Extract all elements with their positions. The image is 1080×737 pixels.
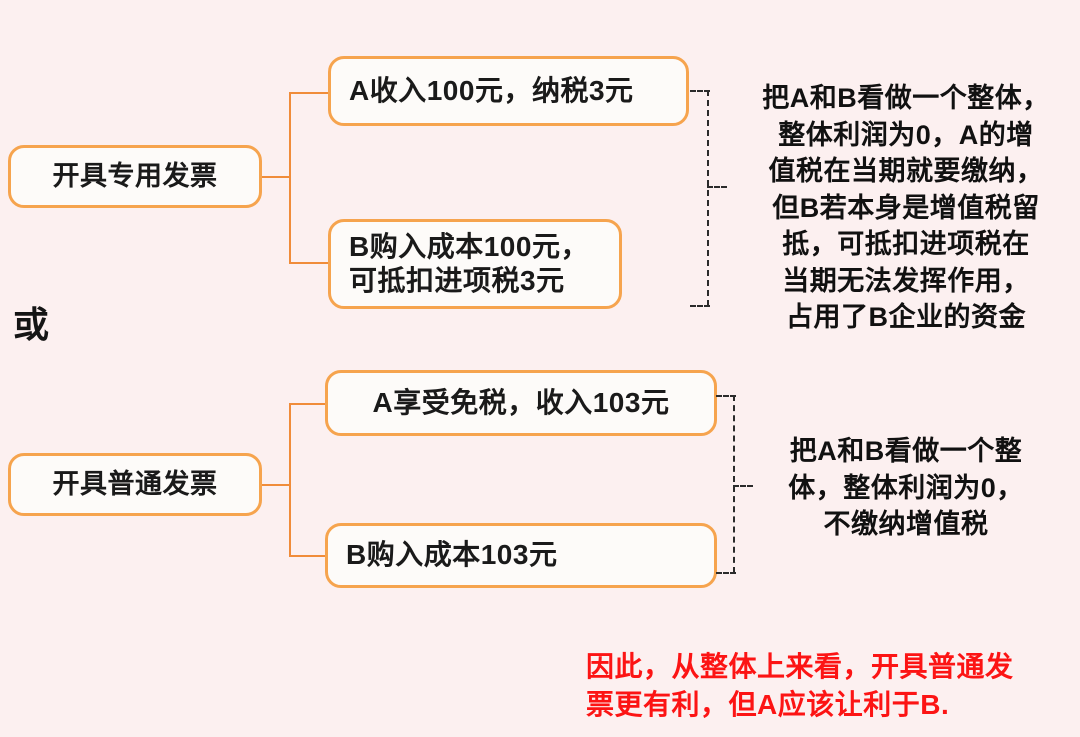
- connector-special-trunk: [289, 92, 291, 263]
- node-root-ordinary-invoice[interactable]: 开具普通发票: [8, 453, 262, 516]
- node-root-special-invoice[interactable]: 开具专用发票: [8, 145, 262, 208]
- bracket-ordinary-bottom-arm: [716, 572, 736, 574]
- node-b-special-cost[interactable]: B购入成本100元， 可抵扣进项税3元: [328, 219, 622, 309]
- bracket-ordinary-stub: [733, 485, 753, 487]
- connector-special-arm-a: [289, 92, 329, 94]
- connector-ordinary-trunk: [289, 403, 291, 555]
- bracket-ordinary-trunk: [733, 395, 735, 573]
- bracket-special-stub: [707, 186, 727, 188]
- connector-special-arm-b: [289, 262, 329, 264]
- node-b-ordinary-cost[interactable]: B购入成本103元: [325, 523, 717, 588]
- bracket-special-trunk: [707, 90, 709, 306]
- node-a-ordinary-income[interactable]: A享受免税，收入103元: [325, 370, 717, 436]
- connector-ordinary-arm-a: [289, 403, 326, 405]
- connector-special-stub: [262, 176, 290, 178]
- or-label: 或: [13, 296, 50, 348]
- connector-ordinary-arm-b: [289, 555, 326, 557]
- bracket-special-bottom-arm: [690, 305, 710, 307]
- diagram-canvas: 开具专用发票 A收入100元，纳税3元 B购入成本100元， 可抵扣进项税3元 …: [0, 0, 1080, 737]
- conclusion-text: 因此，从整体上来看，开具普通发 票更有利，但A应该让利于B.: [586, 648, 1072, 724]
- connector-ordinary-stub: [262, 484, 290, 486]
- node-a-special-income[interactable]: A收入100元，纳税3元: [328, 56, 689, 126]
- note-special-invoice: 把A和B看做一个整体， 整体利润为0，A的增 值税在当期就要缴纳， 但B若本身是…: [748, 80, 1064, 336]
- note-ordinary-invoice: 把A和B看做一个整 体，整体利润为0， 不缴纳增值税: [756, 433, 1056, 543]
